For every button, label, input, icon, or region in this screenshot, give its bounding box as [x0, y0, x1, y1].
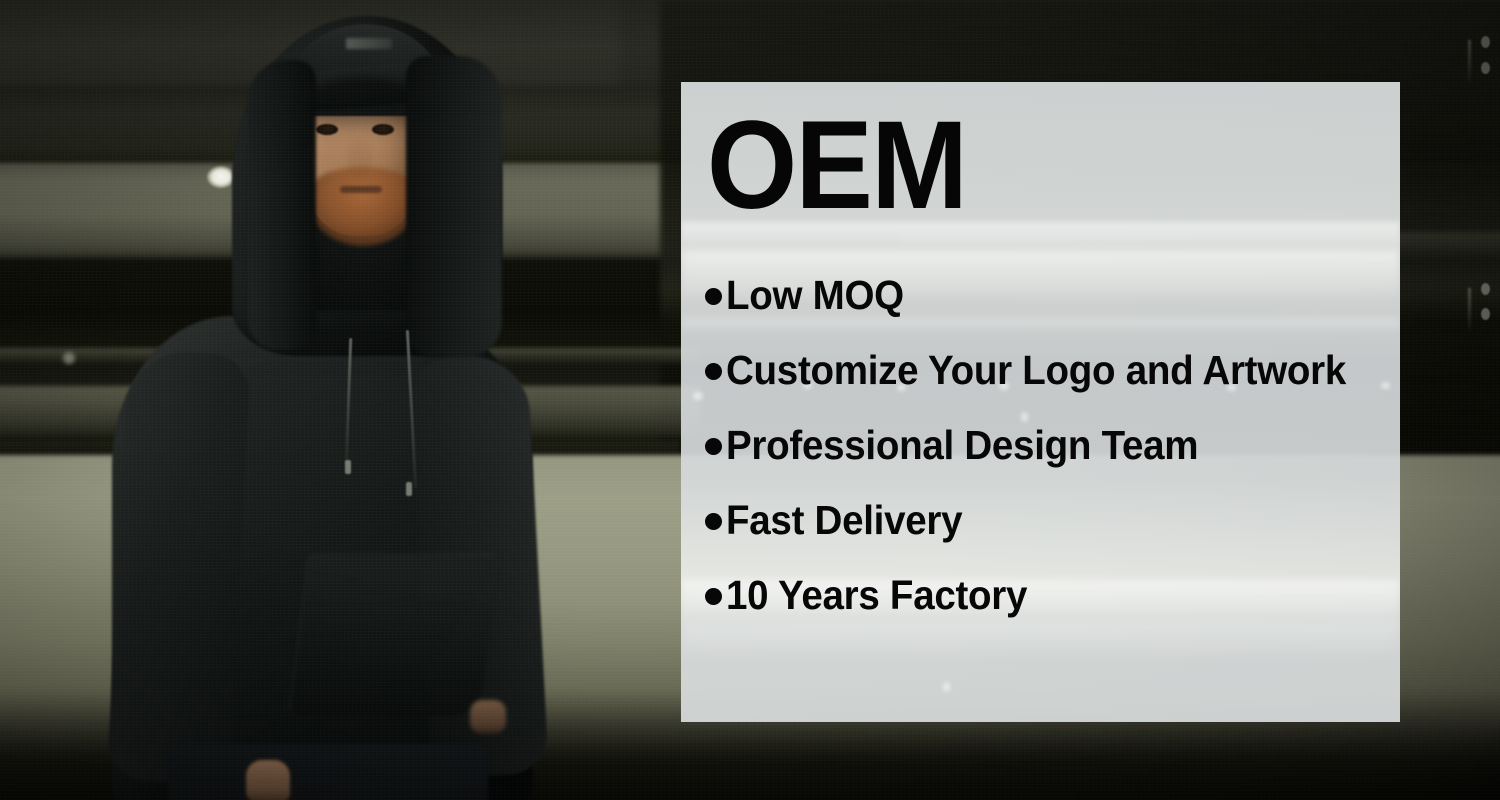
- garage-lamp-icon: [1481, 36, 1490, 48]
- garage-lamp-icon: [1481, 62, 1490, 74]
- feature-label: Customize Your Logo and Artwork: [726, 350, 1346, 391]
- garage-lamp-icon: [1481, 283, 1490, 295]
- cap-logo: [346, 38, 392, 49]
- garage-lamp-stem: [1468, 288, 1471, 334]
- feature-label: 10 Years Factory: [726, 575, 1027, 616]
- hood-left-edge: [248, 60, 316, 350]
- oem-info-panel: OEM Low MOQ Customize Your Logo and Artw…: [681, 82, 1400, 722]
- garage-lamp-stem: [1468, 40, 1471, 86]
- drawstring-aglet: [406, 482, 412, 496]
- model-figure: [0, 0, 680, 800]
- panel-content: OEM Low MOQ Customize Your Logo and Artw…: [681, 82, 1400, 616]
- mouth: [340, 186, 382, 193]
- list-item: 10 Years Factory: [705, 575, 1370, 616]
- list-item: Customize Your Logo and Artwork: [705, 350, 1370, 391]
- feature-label: Fast Delivery: [726, 500, 962, 541]
- panel-light-speck: [943, 682, 950, 692]
- right-hand: [470, 700, 506, 734]
- hoodie-left-arm: [107, 349, 251, 785]
- bullet-dot-icon: [705, 513, 722, 530]
- drawstring-aglet: [345, 460, 351, 474]
- bullet-dot-icon: [705, 288, 722, 305]
- bullet-dot-icon: [705, 363, 722, 380]
- page-title: OEM: [705, 108, 1323, 223]
- list-item: Professional Design Team: [705, 425, 1370, 466]
- bullet-dot-icon: [705, 438, 722, 455]
- feature-label: Low MOQ: [726, 275, 904, 316]
- hood-right-edge: [406, 56, 502, 356]
- left-hand: [246, 760, 290, 800]
- panel-background-bleed: [681, 622, 1400, 662]
- list-item: Low MOQ: [705, 275, 1370, 316]
- hoodie-kangaroo-pocket: [290, 556, 500, 716]
- trousers: [168, 744, 488, 800]
- banner-canvas: OEM Low MOQ Customize Your Logo and Artw…: [0, 0, 1500, 800]
- feature-label: Professional Design Team: [726, 425, 1198, 466]
- garage-lamp-icon: [1481, 308, 1490, 320]
- list-item: Fast Delivery: [705, 500, 1370, 541]
- bullet-dot-icon: [705, 588, 722, 605]
- feature-list: Low MOQ Customize Your Logo and Artwork …: [705, 275, 1370, 616]
